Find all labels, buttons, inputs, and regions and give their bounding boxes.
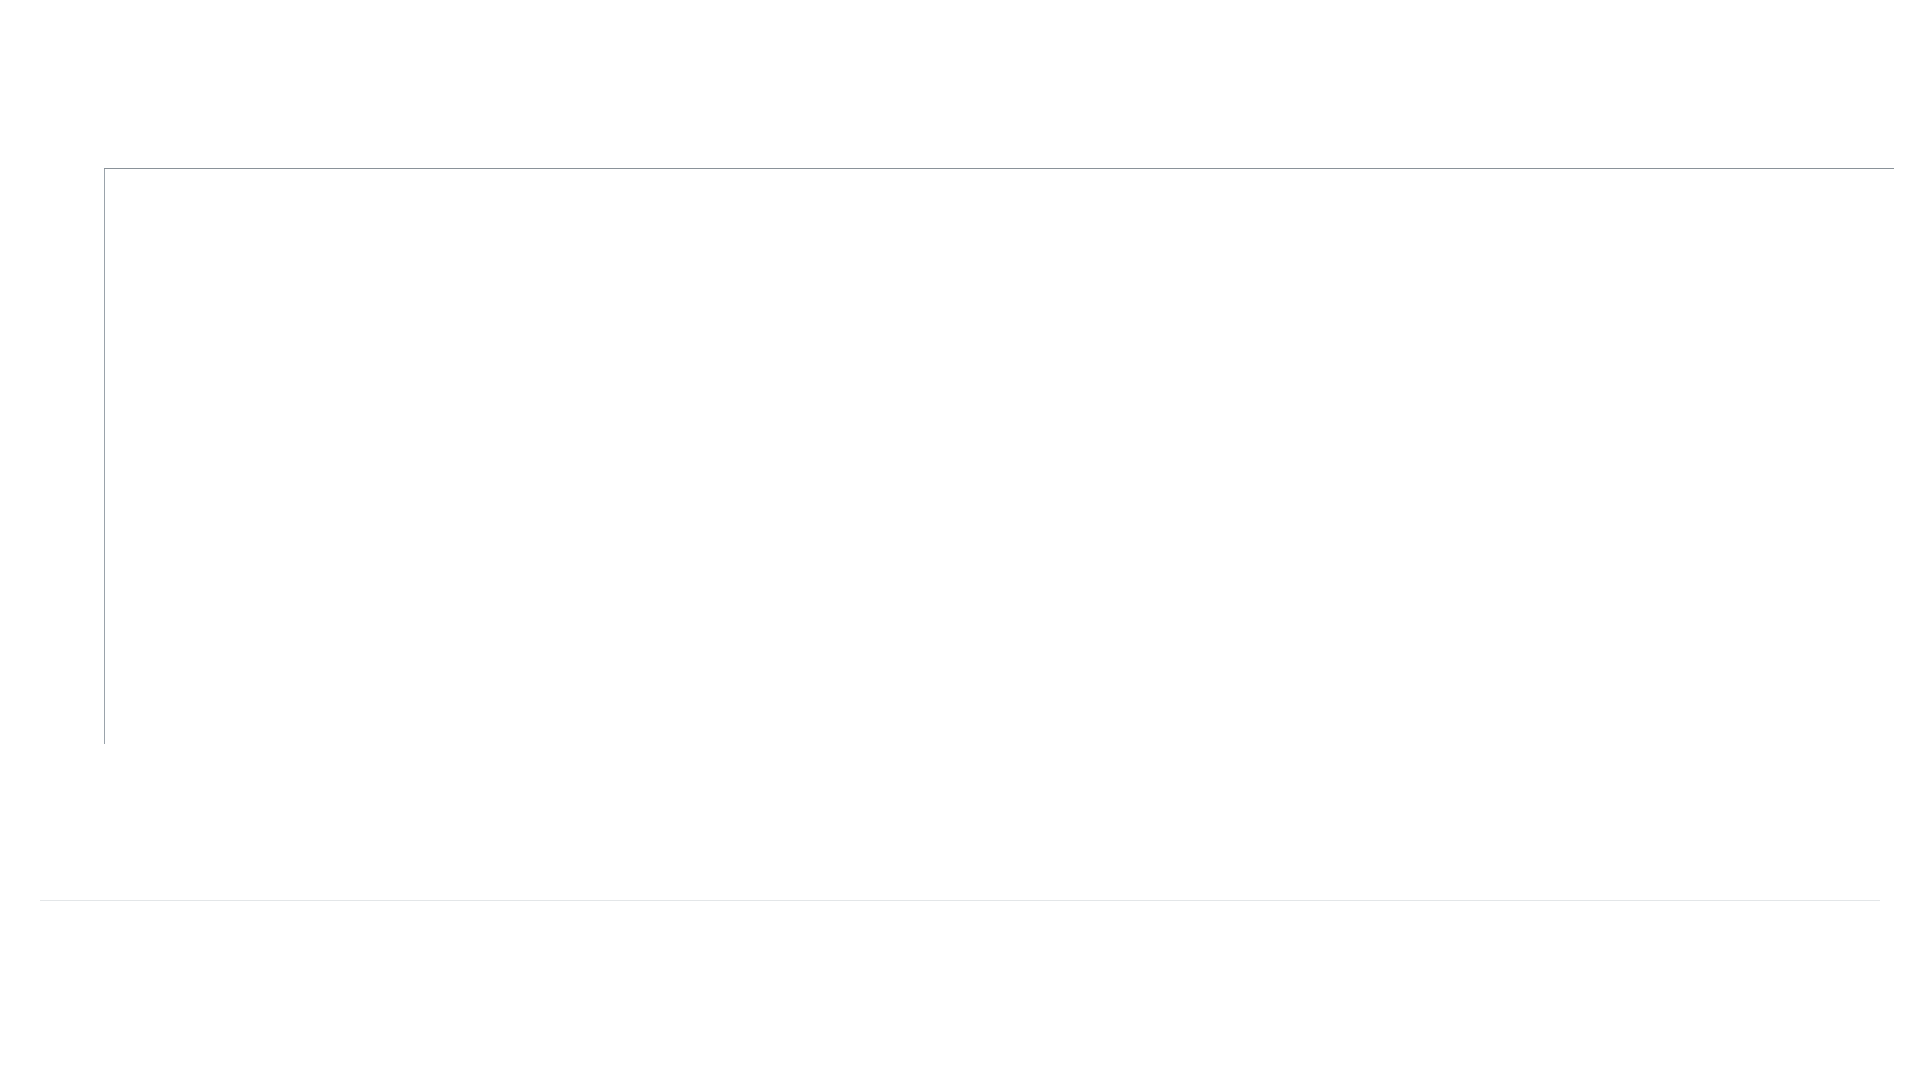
chart-series-layer (104, 168, 1894, 744)
chart-plot-area (104, 168, 1894, 744)
footer-divider (40, 900, 1880, 901)
slide-root (0, 0, 1920, 1080)
chart-legend (104, 838, 1864, 866)
